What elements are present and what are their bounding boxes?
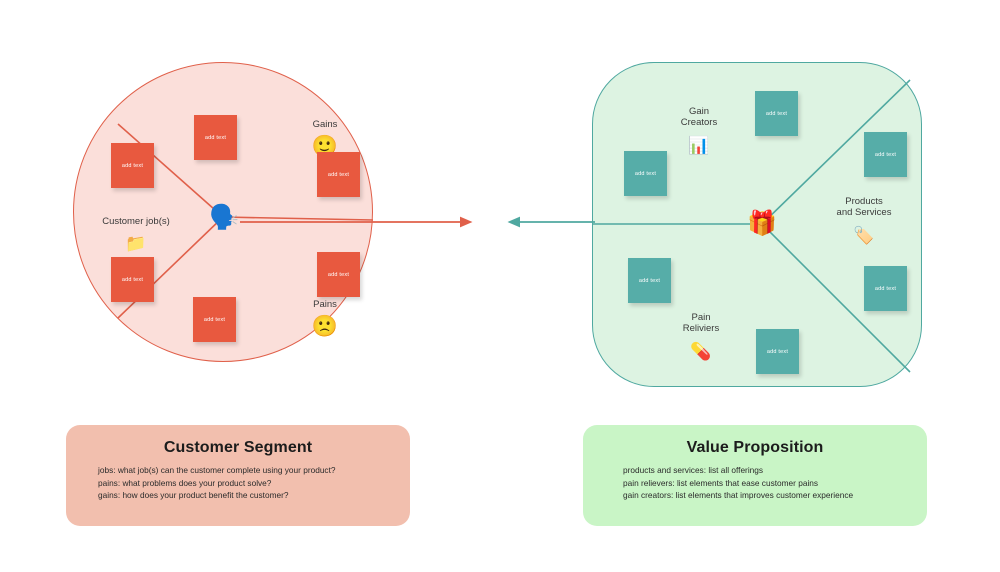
caption-line: pains: what problems does your product s…: [98, 477, 392, 490]
sticky-note[interactable]: add text: [111, 143, 154, 188]
slightly-frowning-face-icon: 🙁: [295, 315, 355, 339]
customer-segment-caption: Customer Segment jobs: what job(s) can t…: [66, 425, 410, 526]
sticky-note[interactable]: add text: [628, 258, 671, 303]
pill-icon: 💊: [670, 340, 732, 364]
sticky-note[interactable]: add text: [756, 329, 799, 374]
label-pain-relievers-text: Pain Reliviers: [683, 312, 719, 335]
label-products-and-services: Products and Services 🏷️: [820, 184, 908, 259]
sticky-note[interactable]: add text: [194, 115, 237, 160]
label-pains-text: Pains: [313, 299, 337, 310]
caption-line: gains: how does your product benefit the…: [98, 489, 392, 502]
value-proposition-caption-list: products and services: list all offering…: [601, 464, 909, 502]
sticky-note[interactable]: add text: [755, 91, 798, 136]
sticky-note[interactable]: add text: [193, 297, 236, 342]
diagram-canvas: 🗣️ Gains 🙂 Customer job(s) 📁 Pains 🙁 add…: [0, 0, 1000, 572]
label-gain-creators: Gain Creators 📊: [668, 94, 730, 169]
caption-line: products and services: list all offering…: [623, 464, 909, 477]
sticky-note[interactable]: add text: [864, 266, 907, 311]
customer-segment-caption-list: jobs: what job(s) can the customer compl…: [84, 464, 392, 502]
label-customer-jobs-text: Customer job(s): [102, 216, 170, 227]
connector-arrows: [220, 190, 780, 250]
label-gain-creators-text: Gain Creators: [681, 106, 717, 129]
customer-segment-caption-heading: Customer Segment: [84, 439, 392, 457]
caption-line: jobs: what job(s) can the customer compl…: [98, 464, 392, 477]
label-products-and-services-text: Products and Services: [837, 196, 892, 219]
value-proposition-caption: Value Proposition products and services:…: [583, 425, 927, 526]
gift-icon: 🎁: [747, 212, 777, 236]
sticky-note[interactable]: add text: [111, 257, 154, 302]
speaking-head-icon: 🗣️: [209, 206, 239, 230]
label-pain-relievers: Pain Reliviers 💊: [670, 300, 732, 375]
bar-chart-icon: 📊: [668, 134, 730, 158]
label-tag-icon: 🏷️: [820, 224, 908, 248]
caption-line: pain relievers: list elements that ease …: [623, 477, 909, 490]
label-gains-text: Gains: [313, 119, 338, 130]
caption-line: gain creators: list elements that improv…: [623, 489, 909, 502]
sticky-note[interactable]: add text: [317, 252, 360, 297]
sticky-note[interactable]: add text: [864, 132, 907, 177]
folder-icon: 📁: [86, 232, 186, 256]
value-proposition-caption-heading: Value Proposition: [601, 439, 909, 457]
